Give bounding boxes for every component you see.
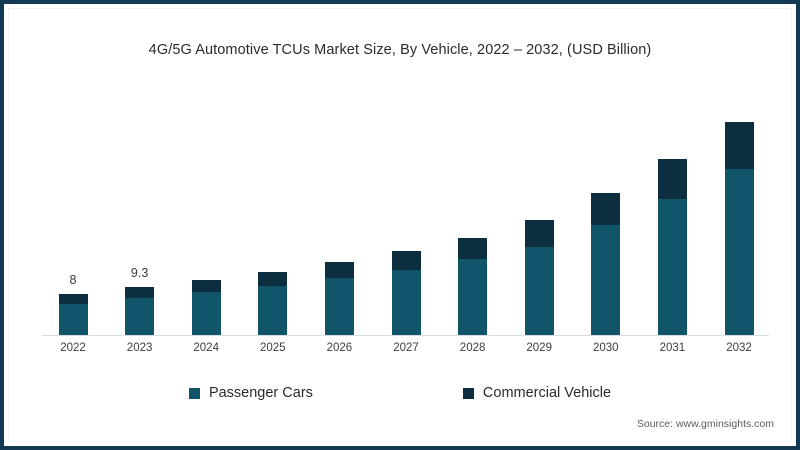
legend-item-passenger-cars[interactable]: Passenger Cars — [189, 385, 313, 401]
bar-column[interactable] — [325, 262, 354, 335]
x-axis-tick-2024: 2024 — [181, 342, 231, 354]
bar-segment-passenger-cars[interactable] — [458, 259, 487, 335]
bar-column[interactable] — [658, 159, 687, 335]
legend-swatch-commercial-vehicle — [463, 388, 474, 399]
x-axis-tick-2027: 2027 — [381, 342, 431, 354]
x-axis-tick-2025: 2025 — [248, 342, 298, 354]
bar-segment-commercial-vehicle[interactable] — [525, 220, 554, 247]
bar-segment-passenger-cars[interactable] — [125, 298, 154, 335]
bar-segment-passenger-cars[interactable] — [525, 247, 554, 335]
x-axis-tick-2030: 2030 — [581, 342, 631, 354]
bar-value-label: 8 — [70, 273, 77, 287]
bar-column[interactable] — [525, 220, 554, 335]
bar-segment-commercial-vehicle[interactable] — [458, 238, 487, 259]
x-axis-tick-2029: 2029 — [514, 342, 564, 354]
bar-column[interactable] — [258, 272, 287, 335]
x-axis-baseline — [42, 335, 769, 336]
bar-segment-commercial-vehicle[interactable] — [59, 294, 88, 304]
legend-swatch-passenger-cars — [189, 388, 200, 399]
x-axis-tick-2022: 2022 — [48, 342, 98, 354]
bar-column[interactable] — [591, 193, 620, 335]
bar-column[interactable] — [392, 251, 421, 335]
bar-segment-passenger-cars[interactable] — [591, 225, 620, 335]
x-axis-tick-2026: 2026 — [314, 342, 364, 354]
bar-segment-passenger-cars[interactable] — [725, 169, 754, 335]
x-axis-tick-2028: 2028 — [448, 342, 498, 354]
bar-column[interactable] — [192, 280, 221, 335]
bar-column[interactable] — [725, 122, 754, 335]
chart-card: 4G/5G Automotive TCUs Market Size, By Ve… — [0, 0, 800, 450]
bar-segment-passenger-cars[interactable] — [325, 278, 354, 335]
bar-segment-commercial-vehicle[interactable] — [658, 159, 687, 199]
bar-column[interactable]: 9.3 — [125, 287, 154, 335]
bar-segment-passenger-cars[interactable] — [392, 270, 421, 335]
bar-segment-commercial-vehicle[interactable] — [258, 272, 287, 286]
bar-column[interactable]: 8 — [59, 294, 88, 335]
bar-segment-commercial-vehicle[interactable] — [725, 122, 754, 169]
x-axis-tick-labels: 2022202320242025202620272028202920302031… — [42, 342, 769, 362]
x-axis-tick-2031: 2031 — [647, 342, 697, 354]
bar-segment-passenger-cars[interactable] — [192, 292, 221, 335]
bar-segment-commercial-vehicle[interactable] — [325, 262, 354, 278]
chart-title: 4G/5G Automotive TCUs Market Size, By Ve… — [4, 42, 796, 58]
legend-item-commercial-vehicle[interactable]: Commercial Vehicle — [463, 385, 611, 401]
bar-column[interactable] — [458, 238, 487, 335]
legend-label-commercial-vehicle: Commercial Vehicle — [483, 385, 611, 401]
x-axis-tick-2032: 2032 — [714, 342, 764, 354]
bar-segment-commercial-vehicle[interactable] — [192, 280, 221, 292]
bar-value-label: 9.3 — [131, 266, 148, 280]
chart-legend: Passenger Cars Commercial Vehicle — [4, 385, 796, 401]
bar-segment-passenger-cars[interactable] — [258, 286, 287, 335]
legend-label-passenger-cars: Passenger Cars — [209, 385, 313, 401]
bar-segment-passenger-cars[interactable] — [658, 199, 687, 335]
plot-area: 89.3 — [42, 94, 769, 335]
bar-segment-commercial-vehicle[interactable] — [392, 251, 421, 270]
x-axis-tick-2023: 2023 — [115, 342, 165, 354]
bar-segment-commercial-vehicle[interactable] — [591, 193, 620, 225]
source-attribution: Source: www.gminsights.com — [637, 418, 774, 430]
bar-segment-passenger-cars[interactable] — [59, 304, 88, 335]
bar-segment-commercial-vehicle[interactable] — [125, 287, 154, 298]
